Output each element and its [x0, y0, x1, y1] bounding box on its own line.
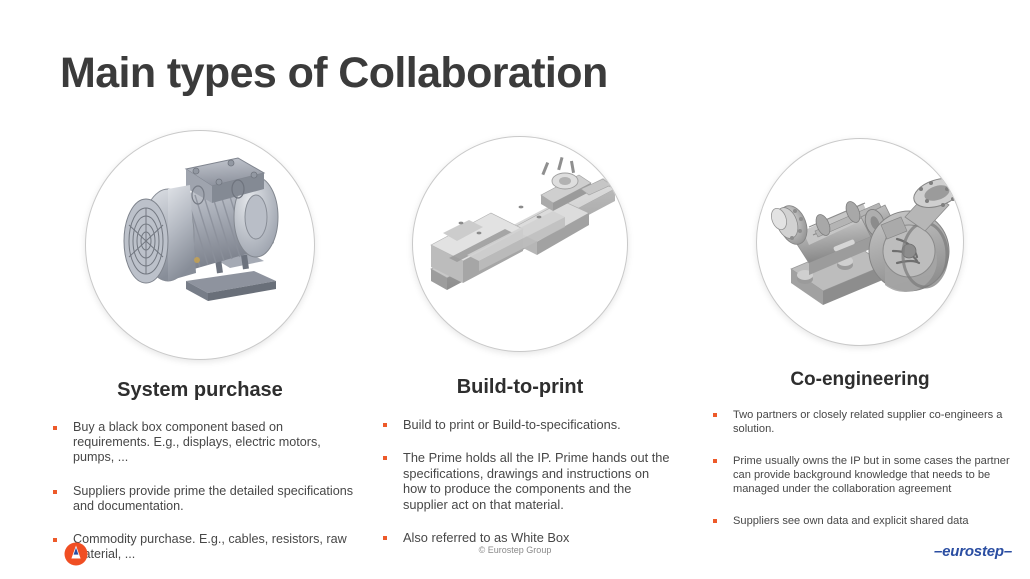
image-circle-wrapper	[700, 130, 1020, 346]
image-circle-wrapper	[40, 130, 360, 360]
column-system-purchase: System purchase Buy a black box componen…	[40, 130, 360, 562]
column-heading: Co-engineering	[700, 369, 1020, 391]
list-item: Suppliers see own data and explicit shar…	[700, 514, 1020, 528]
list-item: The Prime holds all the IP. Prime hands …	[370, 450, 670, 512]
list-item: Two partners or closely related supplier…	[700, 408, 1020, 437]
list-item: Suppliers provide prime the detailed spe…	[40, 484, 360, 514]
bullet-list: Build to print or Build-to-specification…	[370, 417, 670, 545]
pump-cutaway-illustration	[757, 139, 963, 345]
company-mark-logo	[63, 541, 89, 567]
column-co-engineering: Co-engineering Two partners or closely r…	[700, 130, 1020, 528]
list-item: Buy a black box component based on requi…	[40, 420, 360, 466]
page-title: Main types of Collaboration	[60, 50, 860, 97]
list-item: Build to print or Build-to-specification…	[370, 417, 670, 432]
baseplate-frame-illustration	[413, 137, 627, 351]
list-item: Also referred to as White Box	[370, 530, 670, 545]
eurostep-logo: –eurostep–	[934, 543, 1012, 560]
electric-motor-illustration	[86, 131, 314, 359]
orange-circle-a-icon	[63, 541, 89, 567]
slide-canvas: Main types of Collaboration	[0, 0, 1030, 579]
cutaway-centrifugal-pump-render	[756, 138, 964, 346]
image-circle-wrapper	[370, 130, 670, 352]
copyright-text: © Eurostep Group	[0, 545, 1030, 555]
machined-baseplate-frame-render	[412, 136, 628, 352]
column-heading: Build-to-print	[370, 376, 670, 399]
column-heading: System purchase	[40, 379, 360, 402]
list-item: Prime usually owns the IP but in some ca…	[700, 454, 1020, 497]
column-build-to-print: Build-to-print Build to print or Build-t…	[370, 130, 670, 545]
electric-motor-render	[85, 130, 315, 360]
bullet-list: Two partners or closely related supplier…	[700, 408, 1020, 528]
